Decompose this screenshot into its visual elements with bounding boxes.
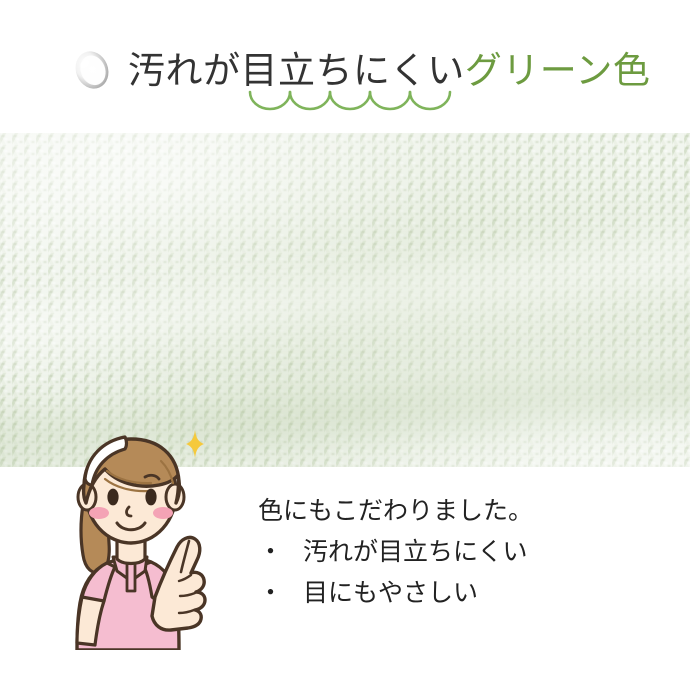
collar-placket — [127, 563, 135, 591]
title-dark-part: 汚れが目立ちにくい — [128, 49, 465, 92]
header-band: 汚れが目立ちにくいグリーン色 — [0, 0, 690, 133]
eye-left — [107, 489, 118, 506]
list-item: ・ 目にもやさしい — [258, 580, 658, 605]
eye-right — [145, 489, 156, 506]
list-item-label: 汚れが目立ちにくい — [303, 539, 528, 564]
scalloped-wave-underline — [248, 88, 458, 114]
pointing-woman-illustration — [55, 405, 255, 650]
fabric-fold-highlight — [0, 202, 690, 394]
page-title: 汚れが目立ちにくいグリーン色 — [128, 52, 650, 89]
right-arm-pointing-hand — [152, 537, 205, 630]
ear-right — [166, 484, 184, 510]
description-heading: 色にもこだわりました。 — [258, 498, 658, 523]
pearl-droplet-icon — [70, 48, 114, 92]
cheek-left — [89, 507, 109, 519]
list-item: ・ 汚れが目立ちにくい — [258, 539, 658, 564]
title-green-part: グリーン色 — [465, 49, 651, 92]
description-block: 色にもこだわりました。 ・ 汚れが目立ちにくい ・ 目にもやさしい — [258, 498, 658, 621]
list-item-label: 目にもやさしい — [303, 580, 478, 605]
bullet-glyph: ・ — [258, 580, 303, 605]
cheek-right — [153, 507, 173, 519]
bullet-glyph: ・ — [258, 539, 303, 564]
